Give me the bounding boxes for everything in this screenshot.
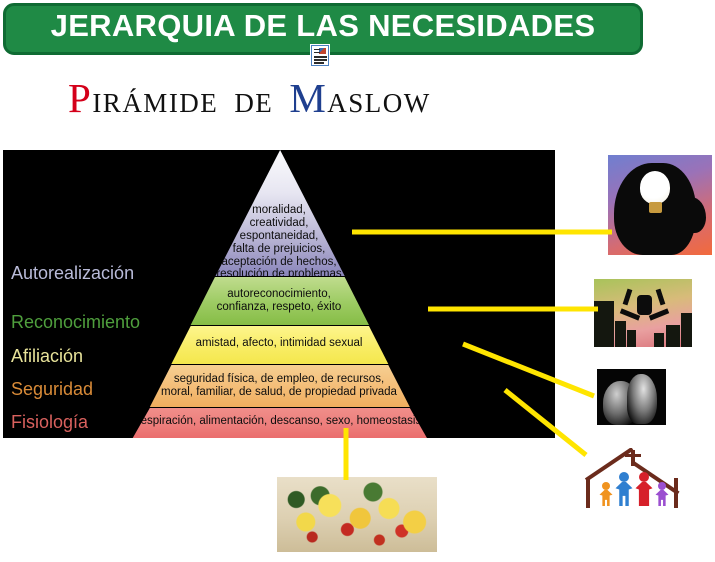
- building-shape: [615, 321, 626, 347]
- subtitle-word-piramide: IRÁMIDE: [92, 88, 218, 118]
- subtitle-cap-m: M: [289, 75, 327, 121]
- doc-icon-line: [314, 52, 320, 53]
- pyramid-tier-text: autoreconocimiento, confianza, respeto, …: [3, 288, 555, 314]
- category-label-afiliacion: Afiliación: [11, 346, 83, 367]
- person-body-shape: [616, 482, 633, 506]
- doc-icon-line: [314, 59, 327, 61]
- figure-arm-shape: [656, 289, 666, 306]
- page-title: JERARQUIA DE LAS NECESIDADES: [6, 8, 640, 44]
- building-shape: [627, 330, 636, 347]
- fruits-food-image: [277, 477, 437, 552]
- category-label-autorealizacion: Autorealización: [11, 263, 134, 284]
- pyramid-panel: Autorealización Reconocimiento Afiliació…: [3, 150, 555, 438]
- doc-icon-thumbnail: [319, 48, 326, 54]
- subtitle-word-maslow: ASLOW: [327, 88, 431, 118]
- family-church-image: [576, 448, 688, 510]
- doc-icon-line: [314, 49, 320, 50]
- family-person-icon: [598, 482, 614, 506]
- subtitle: PIRÁMIDEDEMASLOW: [68, 74, 431, 122]
- person-head-shape: [658, 482, 666, 490]
- wall-shape: [586, 478, 590, 508]
- category-label-fisiologia: Fisiología: [11, 412, 88, 433]
- pyramid-tier-autorealizacion: moralidad, creatividad, espontaneidad, f…: [3, 150, 555, 276]
- figure-arm-shape: [623, 289, 633, 306]
- document-thumbnail-icon[interactable]: [311, 45, 329, 66]
- person-body-shape: [656, 490, 669, 506]
- doc-icon-line: [314, 56, 327, 58]
- subtitle-cap-p: P: [68, 75, 92, 121]
- figure-torso-shape: [637, 295, 652, 315]
- doc-icon-line: [314, 62, 324, 64]
- jumping-figure-image: [594, 279, 692, 347]
- lightbulb-icon: [640, 171, 670, 204]
- family-person-icon: [654, 482, 670, 506]
- family-person-icon: [614, 472, 634, 506]
- person-body-shape: [636, 482, 653, 506]
- person-body-shape: [600, 490, 613, 506]
- category-label-seguridad: Seguridad: [11, 379, 93, 400]
- building-shape: [666, 325, 680, 347]
- building-shape: [654, 333, 664, 347]
- face-profile-shape: [680, 197, 706, 233]
- building-shape: [681, 313, 692, 347]
- person-head-shape: [602, 482, 610, 490]
- lightbulb-base-shape: [649, 202, 662, 213]
- embracing-couple-image: [597, 369, 666, 425]
- wall-shape: [674, 478, 678, 508]
- pyramid-tier-text: amistad, afecto, intimidad sexual: [3, 337, 555, 350]
- category-label-reconocimiento: Reconocimiento: [11, 312, 140, 333]
- head-lightbulb-image: [608, 155, 712, 255]
- person-head-shape: [619, 472, 629, 482]
- person-head-shape: [639, 472, 649, 482]
- couple-figure-shape: [627, 374, 657, 424]
- family-person-icon: [634, 472, 654, 506]
- building-shape: [594, 301, 614, 347]
- subtitle-word-de: DE: [234, 88, 273, 118]
